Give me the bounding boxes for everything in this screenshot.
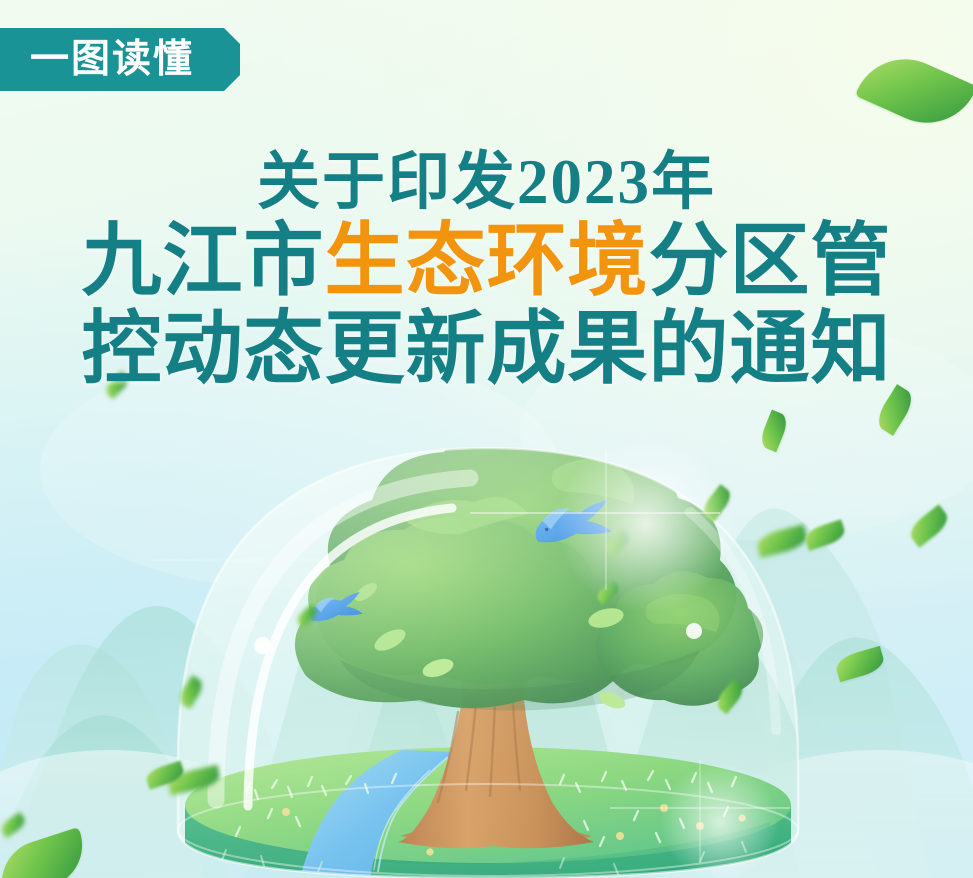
leaf-icon: [873, 384, 918, 436]
leaf-icon: [176, 675, 205, 709]
title-line-2: 九江市生态环境分区管: [0, 218, 973, 306]
illustration-caption: 玻璃穹顶下的生态绿地与大树: [0, 0, 1, 1]
bird-small: [310, 592, 362, 621]
leaf-icon: [103, 371, 131, 399]
dome-scene: [0, 0, 973, 878]
leaf-icon: [755, 524, 809, 557]
leaf-icon: [0, 827, 93, 878]
leaf-icon: [713, 679, 747, 714]
poster-root: 一图读懂 关于印发2023年 九江市生态环境分区管 控动态更新成果的通知 关于印…: [0, 0, 973, 878]
light-streaks: [0, 0, 973, 878]
title-line-1: 关于印发2023年: [0, 146, 973, 218]
title-line-2-suffix: 分区管: [649, 218, 892, 306]
leaf-icon: [144, 761, 186, 790]
leaf-icon: [803, 519, 847, 550]
page-title: 关于印发2023年 九江市生态环境分区管 控动态更新成果的通知: [0, 146, 973, 394]
leaf-icon: [758, 410, 791, 453]
leaf-icon: [906, 504, 953, 547]
birds-layer: [0, 0, 973, 878]
sparkle-glow: [556, 434, 736, 614]
title-line-2-accent: 生态环境: [325, 218, 649, 306]
leaf-icon: [604, 529, 633, 556]
badge-label: 一图读懂: [30, 40, 194, 79]
read-at-a-glance-badge[interactable]: 一图读懂: [0, 28, 240, 91]
background-scenery: [0, 0, 973, 878]
title-line-2-prefix: 九江市: [82, 218, 325, 306]
sparkle-dot: [686, 623, 702, 639]
leaf-icon: [855, 43, 973, 140]
leaf-icon: [295, 604, 320, 627]
title-full-text: 关于印发2023年九江市生态环境分区管控动态更新成果的通知: [0, 0, 1, 1]
leaf-icon: [834, 646, 887, 682]
sparkle-glow: [660, 762, 780, 878]
leaf-icon: [699, 484, 734, 522]
leaf-icon: [0, 812, 28, 838]
leaf-icon: [166, 765, 221, 795]
sparkle-dot: [254, 637, 271, 654]
bird-large: [536, 500, 612, 542]
title-line-3: 控动态更新成果的通知: [0, 306, 973, 394]
leaf-icon: [594, 580, 621, 605]
